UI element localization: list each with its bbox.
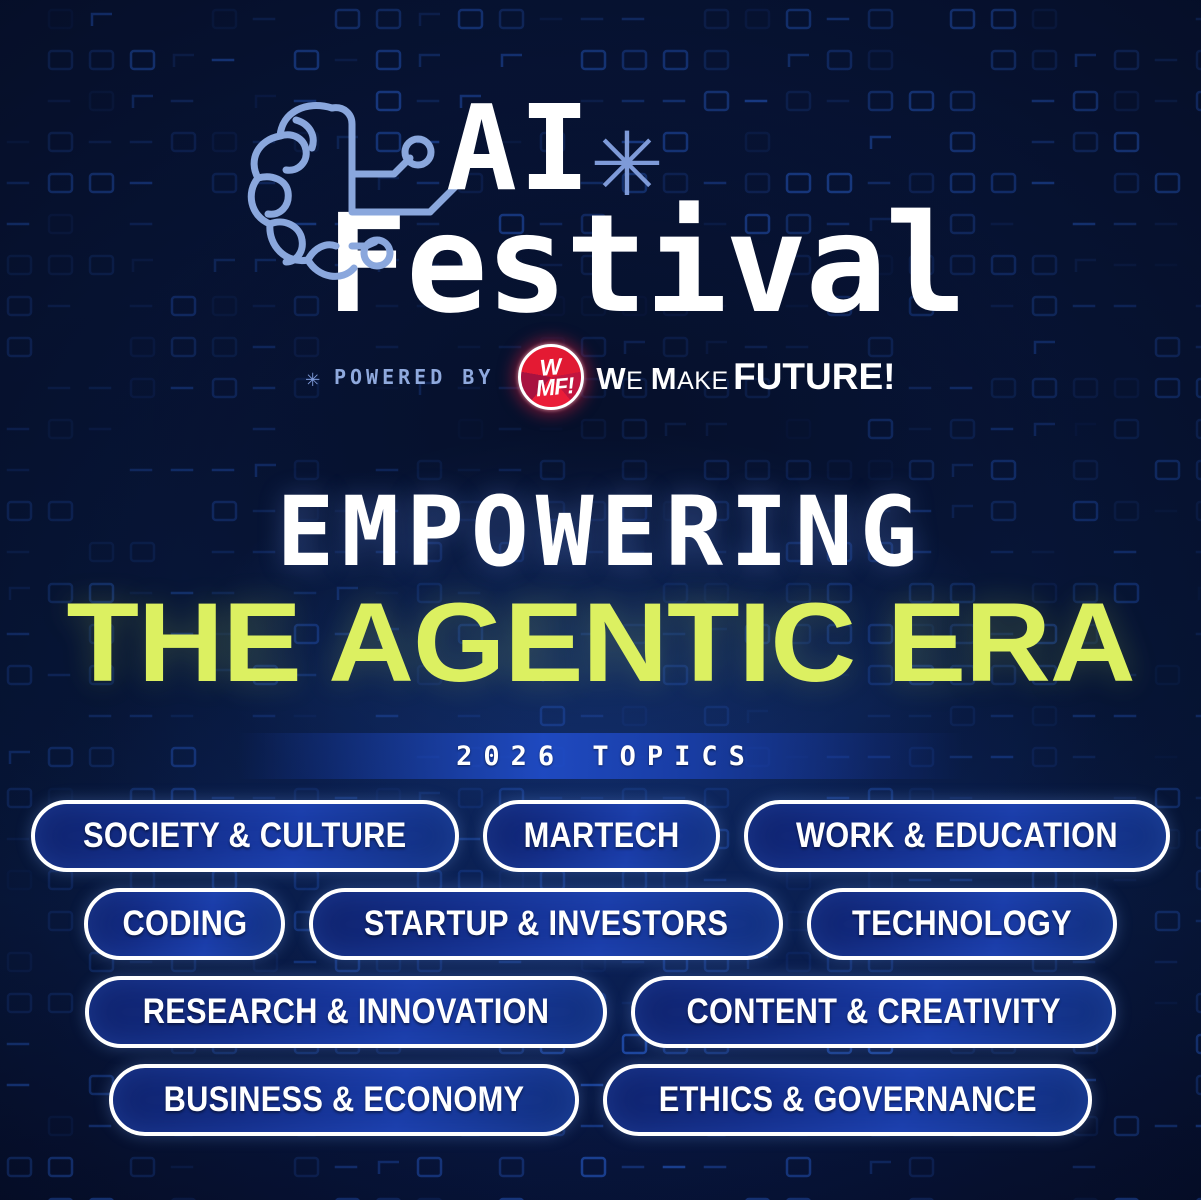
topic-pill[interactable]: ETHICS & GOVERNANCE (603, 1064, 1093, 1136)
wmf-m: M (651, 361, 677, 396)
we-make-future-logo: W MF! WE MAKE FUTURE! (518, 344, 895, 410)
topic-pill[interactable]: RESEARCH & INNOVATION (85, 976, 607, 1048)
topic-pill-label: STARTUP & INVESTORS (364, 904, 728, 944)
wmf-ake: AKE (677, 367, 729, 395)
topic-pill[interactable]: WORK & EDUCATION (744, 800, 1170, 872)
topic-pill[interactable]: MARTECH (483, 800, 720, 872)
topic-pill-row: BUSINESS & ECONOMYETHICS & GOVERNANCE (0, 1064, 1201, 1136)
topics-band-label: 2026 TOPICS (445, 741, 756, 772)
headline-line-2: THE AGENTIC ERA (0, 586, 1201, 700)
topic-pill[interactable]: CONTENT & CREATIVITY (631, 976, 1116, 1048)
poster-canvas: AI✳ Festival ✳ POWERED BY W MF! WE MAKE … (0, 0, 1201, 1200)
headline-block: EMPOWERING THE AGENTIC ERA (0, 484, 1201, 700)
topic-pill[interactable]: CODING (84, 888, 286, 960)
powered-by-row: ✳ POWERED BY W MF! WE MAKE FUTURE! (0, 344, 1201, 410)
topic-pill-row: SOCIETY & CULTUREMARTECHWORK & EDUCATION (0, 800, 1201, 872)
topics-band: 2026 TOPICS (238, 733, 964, 779)
logo-line-ai: AI✳ (236, 96, 965, 202)
headline-line-1: EMPOWERING (0, 484, 1201, 580)
topic-pill-label: RESEARCH & INNOVATION (143, 992, 550, 1032)
festival-logo: AI✳ Festival (0, 96, 1201, 326)
topic-pill-label: CONTENT & CREATIVITY (686, 992, 1060, 1032)
wmf-w: W (596, 361, 626, 396)
logo-ai-text: AI (446, 79, 592, 217)
powered-asterisk-icon: ✳ (306, 366, 320, 390)
wmf-e: E (626, 367, 651, 395)
topic-pill-label: SOCIETY & CULTURE (83, 816, 406, 856)
topic-pill-label: BUSINESS & ECONOMY (163, 1080, 524, 1120)
topic-pill-label: WORK & EDUCATION (796, 816, 1118, 856)
topic-pill[interactable]: SOCIETY & CULTURE (31, 800, 458, 872)
topic-pill-label: TECHNOLOGY (852, 904, 1072, 944)
wmf-wordmark-line2: FUTURE! (733, 356, 895, 397)
wmf-logo-icon: W MF! (518, 344, 584, 410)
topic-pill-label: ETHICS & GOVERNANCE (658, 1080, 1036, 1120)
topic-pill-label: MARTECH (523, 816, 679, 856)
topic-pill-label: CODING (122, 904, 247, 944)
topic-pill[interactable]: BUSINESS & ECONOMY (109, 1064, 579, 1136)
logo-asterisk-icon: ✳ (592, 88, 662, 223)
topic-pill-list: SOCIETY & CULTUREMARTECHWORK & EDUCATION… (0, 800, 1201, 1152)
powered-by-label: POWERED BY (334, 365, 494, 389)
topic-pill-row: CODINGSTARTUP & INVESTORSTECHNOLOGY (0, 888, 1201, 960)
topic-pill-row: RESEARCH & INNOVATIONCONTENT & CREATIVIT… (0, 976, 1201, 1048)
wmf-glyph-line2: MF! (536, 375, 575, 398)
wmf-wordmark-line1: WE MAKE (596, 361, 728, 396)
topic-pill[interactable]: TECHNOLOGY (807, 888, 1117, 960)
topic-pill[interactable]: STARTUP & INVESTORS (309, 888, 783, 960)
